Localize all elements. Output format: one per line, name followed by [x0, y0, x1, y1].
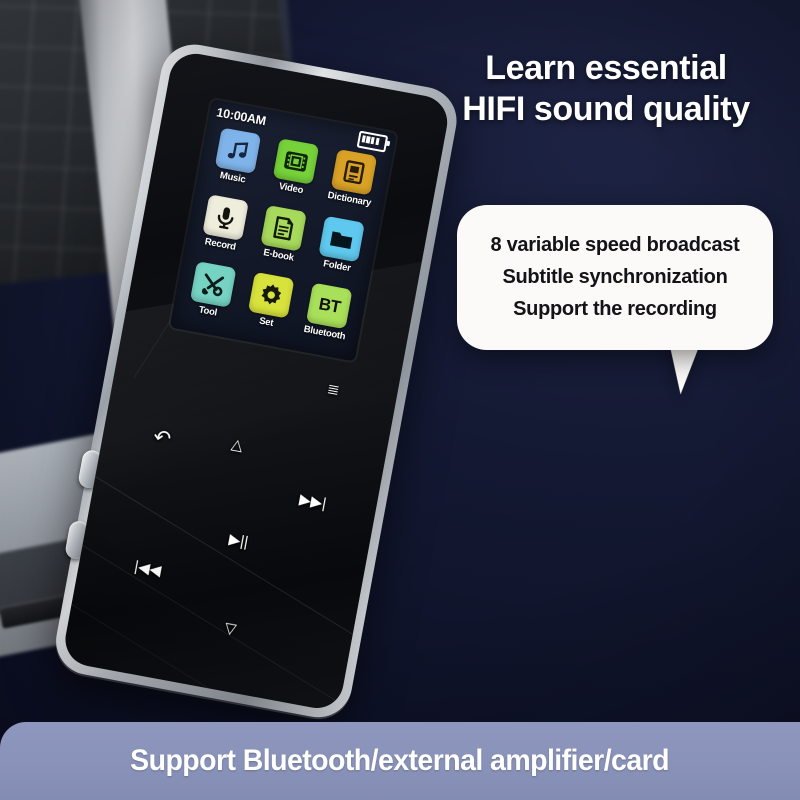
feature-speech-bubble: 8 variable speed broadcast Subtitle sync…: [457, 205, 773, 350]
feature-line: Subtitle synchronization: [502, 266, 727, 289]
product-promo-image: 10:00AM Music: [0, 0, 800, 800]
banner-text: Support Bluetooth/external amplifier/car…: [131, 744, 670, 778]
feature-line: Support the recording: [513, 298, 717, 321]
headline-line-2: HIFI sound quality: [424, 89, 788, 130]
bottom-banner: Support Bluetooth/external amplifier/car…: [0, 722, 800, 800]
page-title: Learn essential HIFI sound quality: [424, 48, 788, 130]
headline-line-1: Learn essential: [424, 48, 788, 89]
feature-line: 8 variable speed broadcast: [491, 234, 740, 257]
